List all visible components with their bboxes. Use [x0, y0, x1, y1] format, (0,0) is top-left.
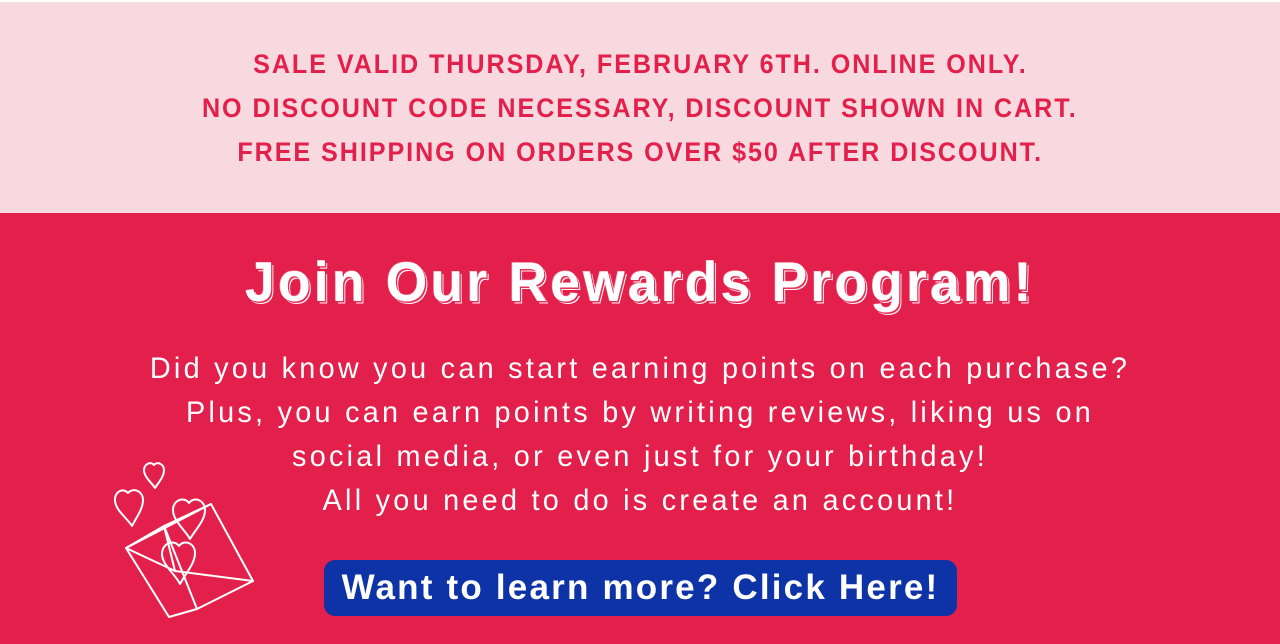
- promo-banner: SALE VALID THURSDAY, FEBRUARY 6th. ONLIN…: [0, 0, 1280, 644]
- rewards-program-panel: Join Our Rewards Program! Did you know y…: [0, 213, 1280, 644]
- sale-terms-line-3: FREE SHIPPING ON ORDERS OVER $50 AFTER D…: [237, 130, 1043, 174]
- rewards-description-line-4: All you need to do is create an account!: [26, 479, 1255, 523]
- sale-terms-line-2: NO DISCOUNT CODE NECESSARY, DISCOUNT SHO…: [202, 86, 1078, 130]
- sale-terms-line-1: SALE VALID THURSDAY, FEBRUARY 6th. ONLIN…: [253, 42, 1028, 86]
- learn-more-button[interactable]: Want to learn more? Click Here!: [324, 560, 957, 616]
- rewards-headline: Join Our Rewards Program!: [32, 249, 1248, 315]
- rewards-description-line-1: Did you know you can start earning point…: [26, 347, 1255, 391]
- rewards-description-line-2: Plus, you can earn points by writing rev…: [26, 391, 1255, 435]
- sale-terms-strip: SALE VALID THURSDAY, FEBRUARY 6th. ONLIN…: [0, 2, 1280, 213]
- rewards-description-line-3: social media, or even just for your birt…: [26, 435, 1255, 479]
- rewards-description: Did you know you can start earning point…: [0, 347, 1280, 523]
